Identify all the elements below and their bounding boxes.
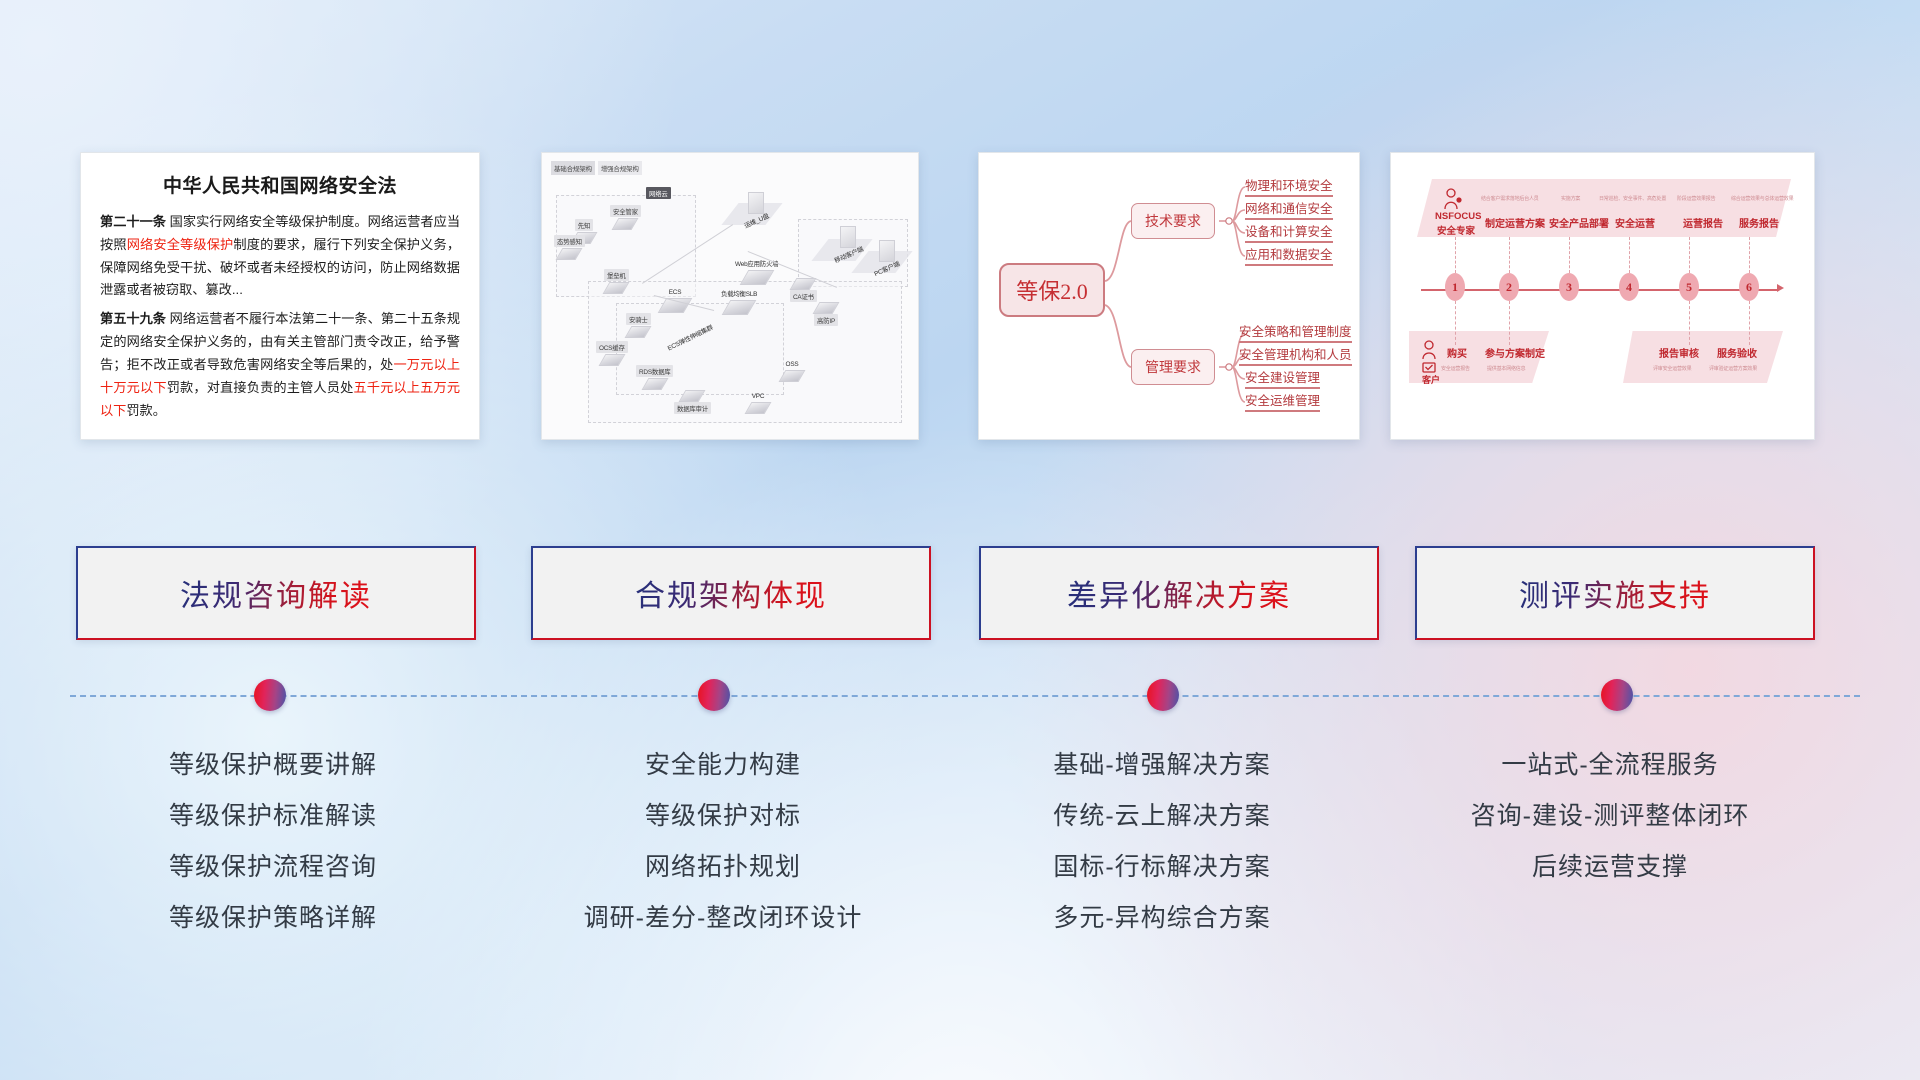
law-title: 中华人民共和国网络安全法	[100, 171, 460, 198]
arch-node-oss: OSS	[782, 359, 802, 382]
nsfocus-drop-4	[1629, 237, 1630, 273]
timeline-dot-2[interactable]	[698, 679, 730, 711]
title-label: 测评实施支持	[1519, 571, 1711, 615]
mindmap-leaf-app-data: 应用和数据安全	[1245, 244, 1333, 266]
arch-node-rds-database: RDS数据库	[636, 365, 673, 390]
section-titles-row: 法规咨询解读 合规架构体现 差异化解决方案 测评实施支持	[0, 546, 1920, 646]
cube-icon	[641, 378, 668, 390]
customer-heading-3: 报告审核	[1659, 345, 1699, 360]
timeline-dashed-line	[70, 695, 1860, 697]
slide-stage: 中华人民共和国网络安全法 第二十一条 国家实行网络安全等级保护制度。网络运营者应…	[0, 0, 1920, 1080]
customer-drop-1	[1455, 301, 1456, 345]
nsfocus-step-2: 2	[1499, 273, 1519, 301]
nsfocus-step-1: 1	[1445, 273, 1465, 301]
arch-node-security-butler: 安全管家	[610, 205, 641, 230]
nsfocus-expert-label-line2: 安全专家	[1437, 223, 1475, 237]
arch-node-ocs-cache: OCS缓存	[596, 341, 628, 366]
nsfocus-top-sub-3: 日常巡检、安全事件、高危处置	[1599, 195, 1666, 202]
arch-node-situation-awareness: 态势感知	[554, 235, 585, 260]
nsfocus-drop-6	[1749, 237, 1750, 273]
mindmap-leaf-policy-system: 安全策略和管理制度	[1239, 321, 1352, 343]
detail-column-architecture: 安全能力构建 等级保护对标 网络拓扑规划 调研-差分-整改闭环设计	[508, 740, 938, 944]
law-article-59: 第五十九条 网络运营者不履行本法第二十一条、第二十五条规定的网络安全保护义务的，…	[100, 308, 460, 422]
card-dengbao-mindmap[interactable]: 等保2.0 技术要求	[978, 152, 1360, 440]
nsfocus-drop-2	[1509, 237, 1510, 273]
list-item: 一站式-全流程服务	[1395, 740, 1825, 791]
law-document: 中华人民共和国网络安全法 第二十一条 国家实行网络安全等级保护制度。网络运营者应…	[81, 153, 479, 432]
mindmap-root: 等保2.0	[999, 263, 1105, 317]
article-59-text-c: 罚款。	[126, 403, 166, 418]
cube-icon	[603, 282, 630, 294]
arch-node-db-audit: 数据库审计	[674, 389, 711, 414]
list-item: 传统-云上解决方案	[947, 791, 1377, 842]
cube-icon	[625, 326, 652, 338]
customer-label: 客户	[1422, 373, 1440, 386]
customer-heading-4: 服务验收	[1717, 345, 1757, 360]
customer-sub-4: 评审验证运营方案效果	[1709, 365, 1757, 372]
title-label: 法规咨询解读	[180, 571, 372, 615]
nsfocus-step-6: 6	[1739, 273, 1759, 301]
title-box-differentiated-solution[interactable]: 差异化解决方案	[979, 546, 1379, 640]
list-item: 等级保护标准解读	[58, 791, 488, 842]
nsfocus-drop-1	[1455, 237, 1456, 273]
cube-icon	[779, 370, 806, 382]
title-box-compliance-architecture[interactable]: 合规架构体现	[531, 546, 931, 640]
cube-icon	[612, 218, 639, 230]
cube-icon	[722, 300, 757, 315]
list-item: 基础-增强解决方案	[947, 740, 1377, 791]
list-item: 等级保护对标	[508, 791, 938, 842]
mindmap-leaf-network-comm: 网络和通信安全	[1245, 198, 1333, 220]
nsfocus-top-sub-5: 综合运营效果与总体运营效果	[1731, 195, 1793, 202]
nsfocus-top-sub-1: 结合客户需求落地后台人员	[1481, 195, 1539, 202]
customer-sub-3: 评审安全运营效果	[1653, 365, 1691, 372]
title-label: 差异化解决方案	[1067, 571, 1291, 615]
article-21-label: 第二十一条	[100, 214, 166, 229]
customer-drop-6	[1749, 301, 1750, 345]
arch-node-vpc: VPC	[748, 391, 768, 414]
nsfocus-top-heading-3: 安全运营	[1615, 215, 1655, 230]
nsfocus-timeline: NSFOCUS 安全专家 客户 结合客户需求落地后台人员 实施方案 日常巡检、安…	[1391, 153, 1814, 439]
detail-lists-row: 等级保护概要讲解 等级保护标准解读 等级保护流程咨询 等级保护策略详解 安全能力…	[0, 740, 1920, 990]
nsfocus-top-heading-2: 安全产品部署	[1549, 215, 1609, 230]
card-cybersecurity-law[interactable]: 中华人民共和国网络安全法 第二十一条 国家实行网络安全等级保护制度。网络运营者应…	[80, 152, 480, 440]
arch-node-ops-usb: 运维_U盘	[740, 191, 772, 226]
mindmap-leaf-physical-env: 物理和环境安全	[1245, 175, 1333, 197]
nsfocus-step-5: 5	[1679, 273, 1699, 301]
cube-icon	[556, 248, 583, 260]
nsfocus-drop-5	[1689, 237, 1690, 273]
list-item: 多元-异构综合方案	[947, 893, 1377, 944]
preview-cards-row: 中华人民共和国网络安全法 第二十一条 国家实行网络安全等级保护制度。网络运营者应…	[0, 152, 1920, 442]
card-compliance-architecture[interactable]: 基础合规架构 增强合规架构 网络云 安全管家 先知	[541, 152, 919, 440]
arch-tab-enhanced[interactable]: 增强合规架构	[598, 161, 642, 175]
detail-column-solution: 基础-增强解决方案 传统-云上解决方案 国标-行标解决方案 多元-异构综合方案	[947, 740, 1377, 944]
cube-icon	[790, 278, 817, 290]
mindmap-leaf-device-compute: 设备和计算安全	[1245, 221, 1333, 243]
arch-tab-basic[interactable]: 基础合规架构	[551, 161, 595, 175]
arch-node-slb: 负载均衡SLB	[718, 287, 760, 315]
law-article-21: 第二十一条 国家实行网络安全等级保护制度。网络运营者应当按照网络安全等级保护制度…	[100, 211, 460, 302]
timeline-dot-4[interactable]	[1601, 679, 1633, 711]
customer-heading-2: 参与方案制定	[1485, 345, 1545, 360]
architecture-tabs: 基础合规架构 增强合规架构	[551, 161, 642, 175]
nsfocus-top-sub-4: 阶段运营效果报告	[1677, 195, 1715, 202]
list-item: 调研-差分-整改闭环设计	[508, 893, 938, 944]
arch-node-anti-ddos-ip: 高防IP	[814, 301, 838, 326]
cube-icon	[679, 390, 706, 402]
mindmap-leaf-build-mgmt: 安全建设管理	[1245, 367, 1320, 389]
nsfocus-expert-label-line1: NSFOCUS	[1435, 211, 1481, 222]
arch-node-mobile-client: 移动客户端	[830, 225, 867, 260]
mindmap-branch-management: 管理要求	[1131, 349, 1215, 385]
list-item: 等级保护流程咨询	[58, 842, 488, 893]
list-item: 国标-行标解决方案	[947, 842, 1377, 893]
cube-icon	[739, 270, 774, 285]
nsfocus-axis	[1421, 289, 1779, 291]
customer-drop-2	[1509, 301, 1510, 345]
mindmap-branch-technical: 技术要求	[1131, 203, 1215, 239]
card-nsfocus-service-flow[interactable]: NSFOCUS 安全专家 客户 结合客户需求落地后台人员 实施方案 日常巡检、安…	[1390, 152, 1815, 440]
architecture-diagram: 基础合规架构 增强合规架构 网络云 安全管家 先知	[542, 153, 918, 439]
customer-drop-5	[1689, 301, 1690, 345]
cube-icon	[598, 354, 625, 366]
nsfocus-top-heading-1: 制定运营方案	[1485, 215, 1545, 230]
nsfocus-top-heading-4: 运营报告	[1683, 215, 1723, 230]
nsfocus-drop-3	[1569, 237, 1570, 273]
list-item: 等级保护概要讲解	[58, 740, 488, 791]
list-item: 安全能力构建	[508, 740, 938, 791]
nsfocus-axis-arrow-icon	[1777, 284, 1784, 292]
arch-node-anqishi: 安骑士	[626, 313, 651, 338]
nsfocus-step-4: 4	[1619, 273, 1639, 301]
arch-node-bastion-host: 堡垒机	[604, 269, 629, 294]
nsfocus-top-sub-2: 实施方案	[1561, 195, 1580, 202]
cube-icon	[813, 302, 840, 314]
customer-band-right	[1623, 331, 1783, 383]
list-item: 网络拓扑规划	[508, 842, 938, 893]
arch-node-network-cloud: 网络云	[646, 187, 671, 199]
nsfocus-top-heading-5: 服务报告	[1739, 215, 1779, 230]
article-59-label: 第五十九条	[100, 311, 166, 326]
list-item: 后续运营支撑	[1395, 842, 1825, 893]
customer-heading-1: 购买	[1447, 345, 1467, 360]
nsfocus-step-3: 3	[1559, 273, 1579, 301]
timeline-dot-3[interactable]	[1147, 679, 1179, 711]
list-item: 咨询-建设-测评整体闭环	[1395, 791, 1825, 842]
mindmap-leaf-org-personnel: 安全管理机构和人员	[1239, 344, 1352, 366]
cube-icon	[745, 402, 772, 414]
arch-node-ca-cert: CA证书	[790, 277, 817, 302]
article-59-text-b: 罚款，对直接负责的主管人员处	[167, 380, 354, 395]
article-21-highlight: 网络安全等级保护	[127, 237, 234, 252]
arch-node-pc-client: PC客户端	[870, 239, 903, 274]
customer-sub-1: 安全运营报告	[1441, 365, 1470, 372]
title-label: 合规架构体现	[635, 571, 827, 615]
mindmap: 等保2.0 技术要求	[979, 153, 1359, 439]
list-item: 等级保护策略详解	[58, 893, 488, 944]
customer-sub-2: 提供基本网络信息	[1487, 365, 1525, 372]
timeline-dot-1[interactable]	[254, 679, 286, 711]
detail-column-assessment: 一站式-全流程服务 咨询-建设-测评整体闭环 后续运营支撑	[1395, 740, 1825, 893]
mindmap-leaf-ops-mgmt: 安全运维管理	[1245, 390, 1320, 412]
detail-column-regulation: 等级保护概要讲解 等级保护标准解读 等级保护流程咨询 等级保护策略详解	[58, 740, 488, 944]
title-box-assessment-support[interactable]: 测评实施支持	[1415, 546, 1815, 640]
title-box-regulation-consulting[interactable]: 法规咨询解读	[76, 546, 476, 640]
